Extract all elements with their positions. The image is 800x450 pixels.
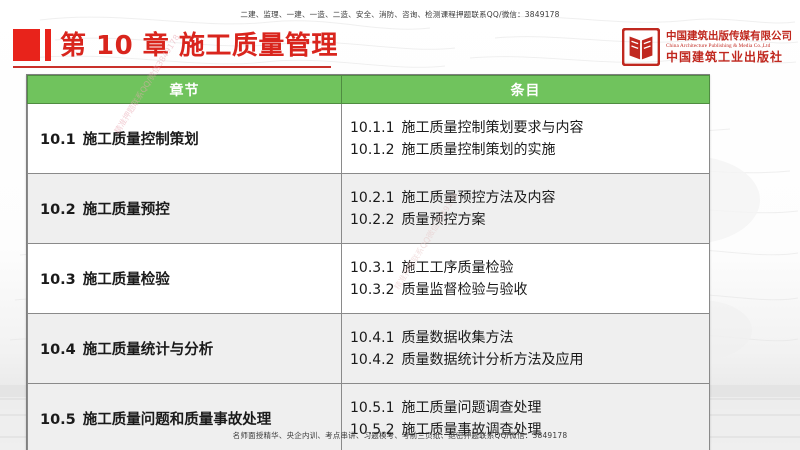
open-book-logo-icon <box>622 28 660 66</box>
item-line: 10.1.2施工质量控制策划的实施 <box>350 139 709 161</box>
section-cell: 10.3施工质量检验 <box>28 244 342 314</box>
section-number: 10.5 <box>40 412 76 428</box>
section-cell: 10.4施工质量统计与分析 <box>28 314 342 384</box>
publisher-company-cn: 中国建筑出版传媒有限公司 <box>666 30 792 42</box>
publisher-logo: 中国建筑出版传媒有限公司 China Architecture Publishi… <box>622 26 792 68</box>
items-cell: 10.2.1施工质量预控方法及内容 10.2.2质量预控方案 <box>342 174 710 244</box>
item-text: 质量监督检验与验收 <box>402 282 528 298</box>
item-line: 10.3.1施工工序质量检验 <box>350 257 709 279</box>
section-cell: 10.2施工质量预控 <box>28 174 342 244</box>
item-number: 10.2.2 <box>350 212 395 228</box>
item-text: 施工质量问题调查处理 <box>402 400 542 416</box>
table-header-row: 章节 条目 <box>28 76 710 104</box>
item-text: 施工质量控制策划要求与内容 <box>402 120 584 136</box>
item-line: 10.4.1质量数据收集方法 <box>350 327 709 349</box>
item-line: 10.4.2质量数据统计分析方法及应用 <box>350 349 709 371</box>
title-underline-decoration <box>13 66 331 68</box>
table-row: 10.4施工质量统计与分析 10.4.1质量数据收集方法 10.4.2质量数据统… <box>28 314 710 384</box>
item-number: 10.1.2 <box>350 142 395 158</box>
item-text: 质量预控方案 <box>402 212 486 228</box>
top-promo-note: 二建、监理、一建、一造、二造、安全、消防、咨询、检测课程押题联系QQ/微信：38… <box>0 9 800 20</box>
section-number: 10.3 <box>40 272 76 288</box>
item-line: 10.3.2质量监督检验与验收 <box>350 279 709 301</box>
items-cell: 10.3.1施工工序质量检验 10.3.2质量监督检验与验收 <box>342 244 710 314</box>
item-text: 施工工序质量检验 <box>402 260 514 276</box>
section-name: 施工质量控制策划 <box>83 132 199 148</box>
section-number: 10.4 <box>40 342 76 358</box>
section-name: 施工质量问题和质量事故处理 <box>83 412 272 428</box>
section-name: 施工质量检验 <box>83 272 170 288</box>
section-cell: 10.1施工质量控制策划 <box>28 104 342 174</box>
title-red-block-decoration <box>13 29 40 61</box>
section-name: 施工质量预控 <box>83 202 170 218</box>
item-text: 施工质量预控方法及内容 <box>402 190 556 206</box>
item-text: 施工质量控制策划的实施 <box>402 142 556 158</box>
item-line: 10.5.1施工质量问题调查处理 <box>350 397 709 419</box>
column-header-items: 条目 <box>342 76 710 104</box>
title-red-bar-decoration <box>45 29 51 61</box>
slide-root: 二建、监理、一建、一造、二造、安全、消防、咨询、检测课程押题联系QQ/微信：38… <box>0 0 800 450</box>
item-line: 10.2.2质量预控方案 <box>350 209 709 231</box>
chapter-contents-table: 章节 条目 10.1施工质量控制策划 10.1.1施工质量控制策划要求与内容 1… <box>26 74 710 450</box>
item-text: 质量数据收集方法 <box>402 330 514 346</box>
publisher-press-cn: 中国建筑工业出版社 <box>666 50 792 64</box>
items-cell: 10.1.1施工质量控制策划要求与内容 10.1.2施工质量控制策划的实施 <box>342 104 710 174</box>
table-row: 10.2施工质量预控 10.2.1施工质量预控方法及内容 10.2.2质量预控方… <box>28 174 710 244</box>
footer-promo-note: 名师面授精华、央企内训、考点串讲、习题模考、考前三页纸、绝密押题联系QQ/微信：… <box>0 430 800 441</box>
item-number: 10.4.2 <box>350 352 395 368</box>
item-number: 10.1.1 <box>350 120 395 136</box>
table-row: 10.3施工质量检验 10.3.1施工工序质量检验 10.3.2质量监督检验与验… <box>28 244 710 314</box>
page-title: 第 10 章 施工质量管理 <box>60 29 338 63</box>
item-line: 10.1.1施工质量控制策划要求与内容 <box>350 117 709 139</box>
section-name: 施工质量统计与分析 <box>83 342 214 358</box>
items-cell: 10.4.1质量数据收集方法 10.4.2质量数据统计分析方法及应用 <box>342 314 710 384</box>
item-number: 10.3.2 <box>350 282 395 298</box>
item-number: 10.4.1 <box>350 330 395 346</box>
column-header-section: 章节 <box>28 76 342 104</box>
section-number: 10.2 <box>40 202 76 218</box>
item-number: 10.5.1 <box>350 400 395 416</box>
table-row: 10.1施工质量控制策划 10.1.1施工质量控制策划要求与内容 10.1.2施… <box>28 104 710 174</box>
publisher-company-en: China Architecture Publishing & Media Co… <box>666 42 792 50</box>
section-number: 10.1 <box>40 132 76 148</box>
item-number: 10.3.1 <box>350 260 395 276</box>
item-text: 质量数据统计分析方法及应用 <box>402 352 584 368</box>
item-number: 10.2.1 <box>350 190 395 206</box>
item-line: 10.2.1施工质量预控方法及内容 <box>350 187 709 209</box>
